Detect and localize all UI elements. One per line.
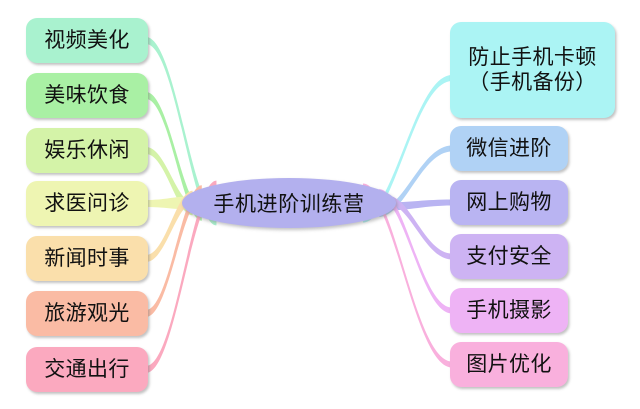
- right-node-4[interactable]: 支付安全: [450, 234, 568, 279]
- left-node-6[interactable]: 旅游观光: [26, 291, 148, 336]
- right-node-3[interactable]: 网上购物: [450, 180, 568, 225]
- left-node-2[interactable]: 美味饮食: [26, 73, 148, 118]
- left-node-4[interactable]: 求医问诊: [26, 181, 148, 226]
- right-node-1[interactable]: 防止手机卡顿 （手机备份）: [450, 22, 615, 118]
- left-node-3[interactable]: 娱乐休闲: [26, 128, 148, 173]
- right-node-2[interactable]: 微信进阶: [450, 126, 568, 171]
- center-node[interactable]: 手机进阶训练营: [182, 178, 396, 228]
- mind-map-canvas: 手机进阶训练营 视频美化 美味饮食 娱乐休闲 求医问诊 新闻时事 旅游观光 交通…: [0, 0, 640, 409]
- left-node-5[interactable]: 新闻时事: [26, 236, 148, 281]
- left-node-7[interactable]: 交通出行: [26, 347, 148, 392]
- left-node-1[interactable]: 视频美化: [26, 18, 148, 63]
- right-node-5[interactable]: 手机摄影: [450, 288, 568, 333]
- right-node-6[interactable]: 图片优化: [450, 342, 568, 387]
